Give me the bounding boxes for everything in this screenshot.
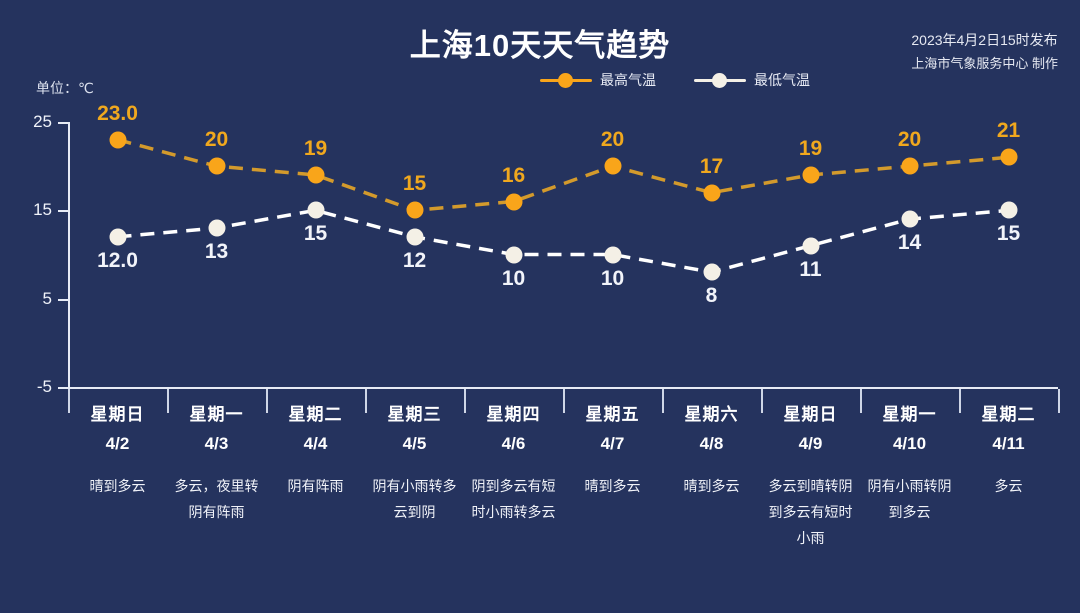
value-label-low: 12.0 <box>97 249 138 273</box>
data-point-low[interactable] <box>406 228 423 245</box>
data-point-high[interactable] <box>109 131 126 148</box>
value-label-low: 11 <box>799 258 821 282</box>
day-weekday-label: 星期日 <box>764 400 857 425</box>
day-column[interactable]: 星期一4/10阴有小雨转阴到多云 <box>860 396 959 596</box>
day-weather-description: 阴有小雨转阴到多云 <box>863 474 956 526</box>
day-date-label: 4/9 <box>764 434 857 454</box>
day-date-label: 4/2 <box>71 434 164 454</box>
series-line-low <box>118 210 1009 272</box>
day-weather-description: 晴到多云 <box>665 474 758 500</box>
data-point-low[interactable] <box>109 228 126 245</box>
day-weather-description: 多云，夜里转阴有阵雨 <box>170 474 263 526</box>
day-weather-description: 晴到多云 <box>566 474 659 500</box>
day-column[interactable]: 星期三4/5阴有小雨转多云到阴 <box>365 396 464 596</box>
value-label-low: 15 <box>997 222 1020 246</box>
day-weekday-label: 星期一 <box>170 400 263 425</box>
day-column[interactable]: 星期日4/9多云到晴转阴到多云有短时小雨 <box>761 396 860 596</box>
day-column[interactable]: 星期二4/4阴有阵雨 <box>266 396 365 596</box>
value-label-low: 15 <box>304 222 327 246</box>
column-divider <box>1058 389 1060 413</box>
day-column[interactable]: 星期一4/3多云，夜里转阴有阵雨 <box>167 396 266 596</box>
day-weather-description: 晴到多云 <box>71 474 164 500</box>
value-label-high: 19 <box>799 137 822 161</box>
data-point-low[interactable] <box>901 211 918 228</box>
data-point-high[interactable] <box>505 193 522 210</box>
day-weather-description: 阴有阵雨 <box>269 474 362 500</box>
data-point-high[interactable] <box>307 167 324 184</box>
day-column[interactable]: 星期四4/6阴到多云有短时小雨转多云 <box>464 396 563 596</box>
y-axis-tick <box>58 122 70 124</box>
data-point-high[interactable] <box>901 158 918 175</box>
y-axis-tick-label: 5 <box>0 289 52 309</box>
day-date-label: 4/3 <box>170 434 263 454</box>
y-axis-tick-label: -5 <box>0 377 52 397</box>
day-weekday-label: 星期三 <box>368 400 461 425</box>
data-point-high[interactable] <box>604 158 621 175</box>
day-date-label: 4/10 <box>863 434 956 454</box>
value-label-low: 10 <box>601 267 624 291</box>
value-label-high: 15 <box>403 172 426 196</box>
data-point-low[interactable] <box>505 246 522 263</box>
day-weekday-label: 星期二 <box>962 400 1055 425</box>
day-weather-description: 多云 <box>962 474 1055 500</box>
data-point-low[interactable] <box>307 202 324 219</box>
value-label-low: 12 <box>403 249 426 273</box>
data-point-low[interactable] <box>1000 202 1017 219</box>
day-column[interactable]: 星期六4/8晴到多云 <box>662 396 761 596</box>
value-label-high: 19 <box>304 137 327 161</box>
value-label-high: 23.0 <box>97 102 138 126</box>
value-label-low: 13 <box>205 240 228 264</box>
weather-trend-chart-page: 上海10天天气趋势 2023年4月2日15时发布 上海市气象服务中心 制作 最高… <box>0 0 1080 613</box>
data-point-high[interactable] <box>406 202 423 219</box>
data-point-low[interactable] <box>604 246 621 263</box>
value-label-high: 20 <box>898 128 921 152</box>
data-point-low[interactable] <box>208 220 225 237</box>
day-column[interactable]: 星期日4/2晴到多云 <box>68 396 167 596</box>
day-date-label: 4/11 <box>962 434 1055 454</box>
day-weather-description: 多云到晴转阴到多云有短时小雨 <box>764 474 857 552</box>
day-columns: 星期日4/2晴到多云星期一4/3多云，夜里转阴有阵雨星期二4/4阴有阵雨星期三4… <box>68 396 1058 596</box>
data-point-low[interactable] <box>703 264 720 281</box>
y-axis-tick-label: 25 <box>0 112 52 132</box>
series-line-high <box>118 140 1009 211</box>
day-weather-description: 阴有小雨转多云到阴 <box>368 474 461 526</box>
y-axis-line <box>68 122 70 388</box>
day-weekday-label: 星期一 <box>863 400 956 425</box>
day-date-label: 4/8 <box>665 434 758 454</box>
data-point-high[interactable] <box>802 167 819 184</box>
data-point-high[interactable] <box>1000 149 1017 166</box>
value-label-high: 17 <box>700 155 723 179</box>
day-date-label: 4/5 <box>368 434 461 454</box>
data-point-high[interactable] <box>208 158 225 175</box>
value-label-high: 20 <box>205 128 228 152</box>
value-label-high: 20 <box>601 128 624 152</box>
y-axis-tick <box>58 210 70 212</box>
day-date-label: 4/7 <box>566 434 659 454</box>
value-label-low: 10 <box>502 267 525 291</box>
day-column[interactable]: 星期二4/11多云 <box>959 396 1058 596</box>
value-label-low: 14 <box>898 231 921 255</box>
day-weekday-label: 星期四 <box>467 400 560 425</box>
value-label-low: 8 <box>706 284 718 308</box>
value-label-high: 21 <box>997 119 1020 143</box>
day-weather-description: 阴到多云有短时小雨转多云 <box>467 474 560 526</box>
y-axis-tick-label: 15 <box>0 200 52 220</box>
day-weekday-label: 星期五 <box>566 400 659 425</box>
y-axis-tick <box>58 299 70 301</box>
day-date-label: 4/4 <box>269 434 362 454</box>
value-label-high: 16 <box>502 164 525 188</box>
data-point-high[interactable] <box>703 184 720 201</box>
day-date-label: 4/6 <box>467 434 560 454</box>
day-weekday-label: 星期日 <box>71 400 164 425</box>
day-weekday-label: 星期二 <box>269 400 362 425</box>
day-weekday-label: 星期六 <box>665 400 758 425</box>
data-point-low[interactable] <box>802 237 819 254</box>
day-column[interactable]: 星期五4/7晴到多云 <box>563 396 662 596</box>
